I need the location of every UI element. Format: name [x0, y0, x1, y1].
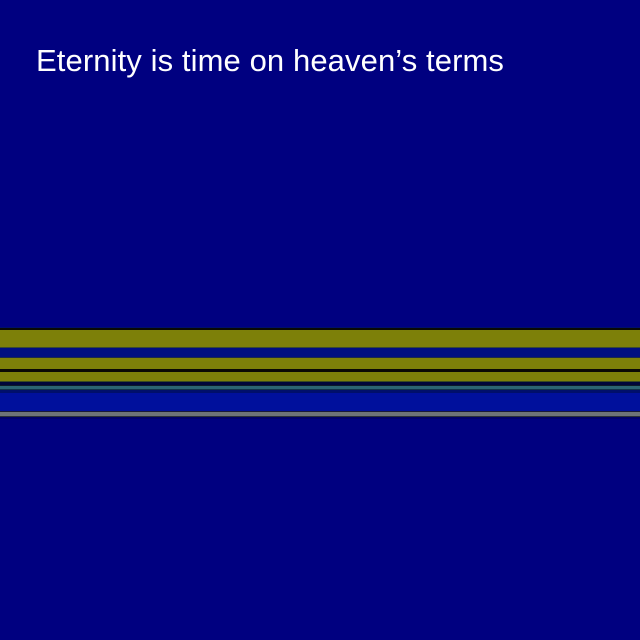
stripe-15 [0, 393, 640, 411]
horizontal-stripe-band [0, 327, 640, 410]
stripe-8 [0, 372, 640, 381]
page-title: Eternity is time on heaven’s terms [36, 42, 596, 80]
stripe-6 [0, 358, 640, 369]
slide-canvas: Eternity is time on heaven’s terms [0, 0, 640, 640]
stripe-19 [0, 417, 640, 419]
stripe-4 [0, 348, 640, 357]
stripe-2 [0, 330, 640, 347]
